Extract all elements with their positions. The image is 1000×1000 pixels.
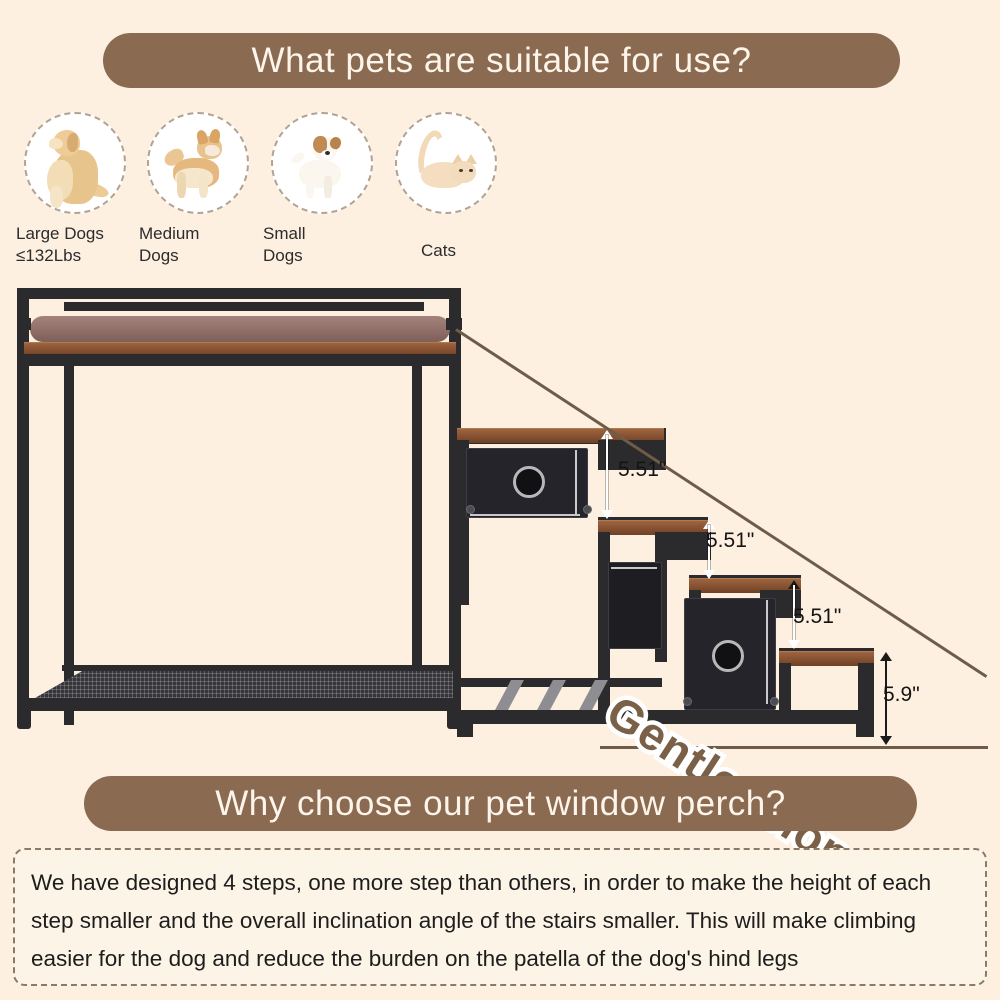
pet-category-label: Large Dogs ≤132Lbs <box>13 223 137 268</box>
pet-category-label: Medium Dogs <box>136 223 260 268</box>
pet-category-cats: Cats <box>384 112 508 262</box>
dim1-label: 5.51" <box>618 458 666 482</box>
dim1-arrow-bottom <box>601 510 613 519</box>
perch-backrest-rail <box>64 302 424 311</box>
dim2-arrow-bottom <box>703 570 715 579</box>
pet-category-small-dogs: Small Dogs <box>260 112 384 268</box>
perch-foot-left <box>17 711 31 729</box>
step1-bin-rail-top <box>575 450 577 514</box>
step2-bin-rail <box>611 567 657 569</box>
heading-pet-suitability: What pets are suitable for use? <box>103 33 900 88</box>
step2-side-panel <box>667 532 711 560</box>
dim2-label: 5.51" <box>706 529 754 553</box>
perch-deck-bracket-left <box>17 318 31 330</box>
heading-why-choose: Why choose our pet window perch? <box>84 776 917 831</box>
step1-bin-handle-ring[interactable] <box>513 466 545 498</box>
perch-mesh-back-rail <box>62 665 457 671</box>
description-text: We have designed 4 steps, one more step … <box>31 864 969 978</box>
pet-category-medium-dogs: Medium Dogs <box>136 112 260 268</box>
step1-bin-screw-left <box>466 505 475 514</box>
perch-mesh-shelf <box>28 668 453 702</box>
step1-bin-rail-bottom <box>470 514 580 516</box>
pet-category-row: Large Dogs ≤132Lbs Medium Dogs S <box>0 112 1000 277</box>
pet-category-label: Small Dogs <box>260 223 384 268</box>
step3-bin-screw-left <box>683 697 692 706</box>
step2-storage-bin-back <box>608 562 662 649</box>
step1-bin-screw-right <box>583 505 592 514</box>
step3-bin-handle-ring[interactable] <box>712 640 744 672</box>
kitten-icon <box>395 112 497 214</box>
shiba-inu-icon <box>147 112 249 214</box>
product-illustration: Gentler slopes 5.51" 5.51" 5.51" 5.9" <box>0 280 1000 770</box>
golden-retriever-icon <box>24 112 126 214</box>
pet-category-large-dogs: Large Dogs ≤132Lbs <box>13 112 137 268</box>
jack-russell-puppy-icon <box>271 112 373 214</box>
pet-category-label: Cats <box>384 240 508 262</box>
perch-cushion <box>30 316 450 342</box>
dim4-arrow-bottom <box>880 736 892 745</box>
perch-top-rail <box>17 288 461 299</box>
perch-deck-bracket-right <box>446 318 462 330</box>
step3-bin-rail-right <box>766 600 768 704</box>
perch-inner-right-post <box>412 325 422 710</box>
stair-foot-right <box>856 723 874 737</box>
description-box: We have designed 4 steps, one more step … <box>13 848 987 986</box>
perch-deck-frame <box>17 354 461 366</box>
dim4-label: 5.9" <box>883 683 920 707</box>
dim3-label: 5.51" <box>793 605 841 629</box>
stair-foot-left <box>457 723 473 737</box>
dim1-line <box>606 435 608 513</box>
dim3-arrow-bottom <box>788 640 800 649</box>
step3-bin-screw-right <box>770 697 779 706</box>
perch-mesh-front-rail <box>17 698 461 711</box>
